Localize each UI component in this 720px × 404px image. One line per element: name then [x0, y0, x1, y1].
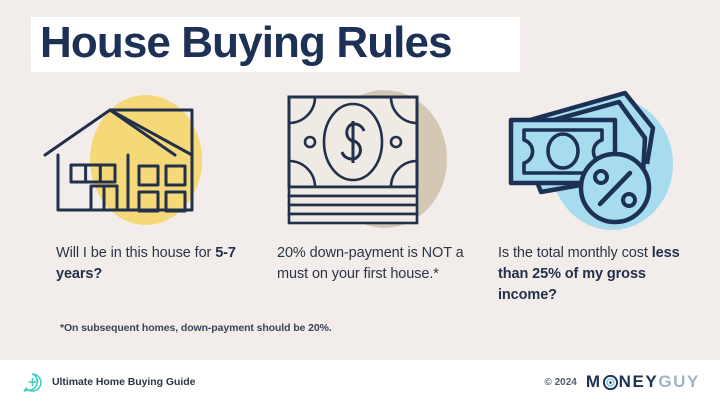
- rule-text-3-lead: Is the total monthly cost: [498, 245, 652, 261]
- dollar-bill-icon: [285, 91, 425, 231]
- brand-letters-guy: GUY: [658, 372, 700, 392]
- moneyguy-logo[interactable]: M NEY GUY: [586, 372, 700, 392]
- footer-guide-label: Ultimate Home Buying Guide: [52, 376, 195, 388]
- rule-column-2: [265, 88, 490, 233]
- rule-text-3: Is the total monthly cost less than 25% …: [498, 243, 703, 306]
- footnote: *On subsequent homes, down-payment shoul…: [60, 321, 332, 336]
- rule-text-1-lead: Will I be in this house for: [56, 245, 215, 261]
- speech-bubble-plus-icon: [22, 372, 43, 393]
- rule-icon-area-3: [487, 88, 712, 233]
- brand-letter-m: M: [586, 372, 602, 392]
- rule-column-1: [28, 88, 253, 233]
- title-highlight-band: House Buying Rules: [31, 17, 520, 72]
- house-icon: [40, 98, 210, 223]
- rule-icon-area-1: [28, 88, 253, 233]
- brand-letters-ney: NEY: [619, 372, 659, 392]
- rule-text-2-lead: 20% down-payment is NOT a must on your f…: [277, 245, 464, 282]
- rule-icon-area-2: [265, 88, 490, 233]
- rule-column-3: [487, 88, 712, 233]
- rule-text-1: Will I be in this house for 5-7 years?: [56, 243, 256, 285]
- copyright-text: © 2024: [544, 377, 576, 388]
- cash-percent-icon: [497, 88, 672, 233]
- footer-brand-area: © 2024 M NEY GUY: [544, 372, 700, 392]
- footer-bar: Ultimate Home Buying Guide © 2024 M NEY …: [0, 360, 720, 404]
- rule-text-2: 20% down-payment is NOT a must on your f…: [277, 243, 477, 285]
- infographic-canvas: House Buying Rules: [0, 0, 720, 404]
- page-title: House Buying Rules: [40, 15, 452, 71]
- footer-guide-link[interactable]: Ultimate Home Buying Guide: [22, 372, 195, 393]
- target-o-logo-icon: [603, 375, 618, 390]
